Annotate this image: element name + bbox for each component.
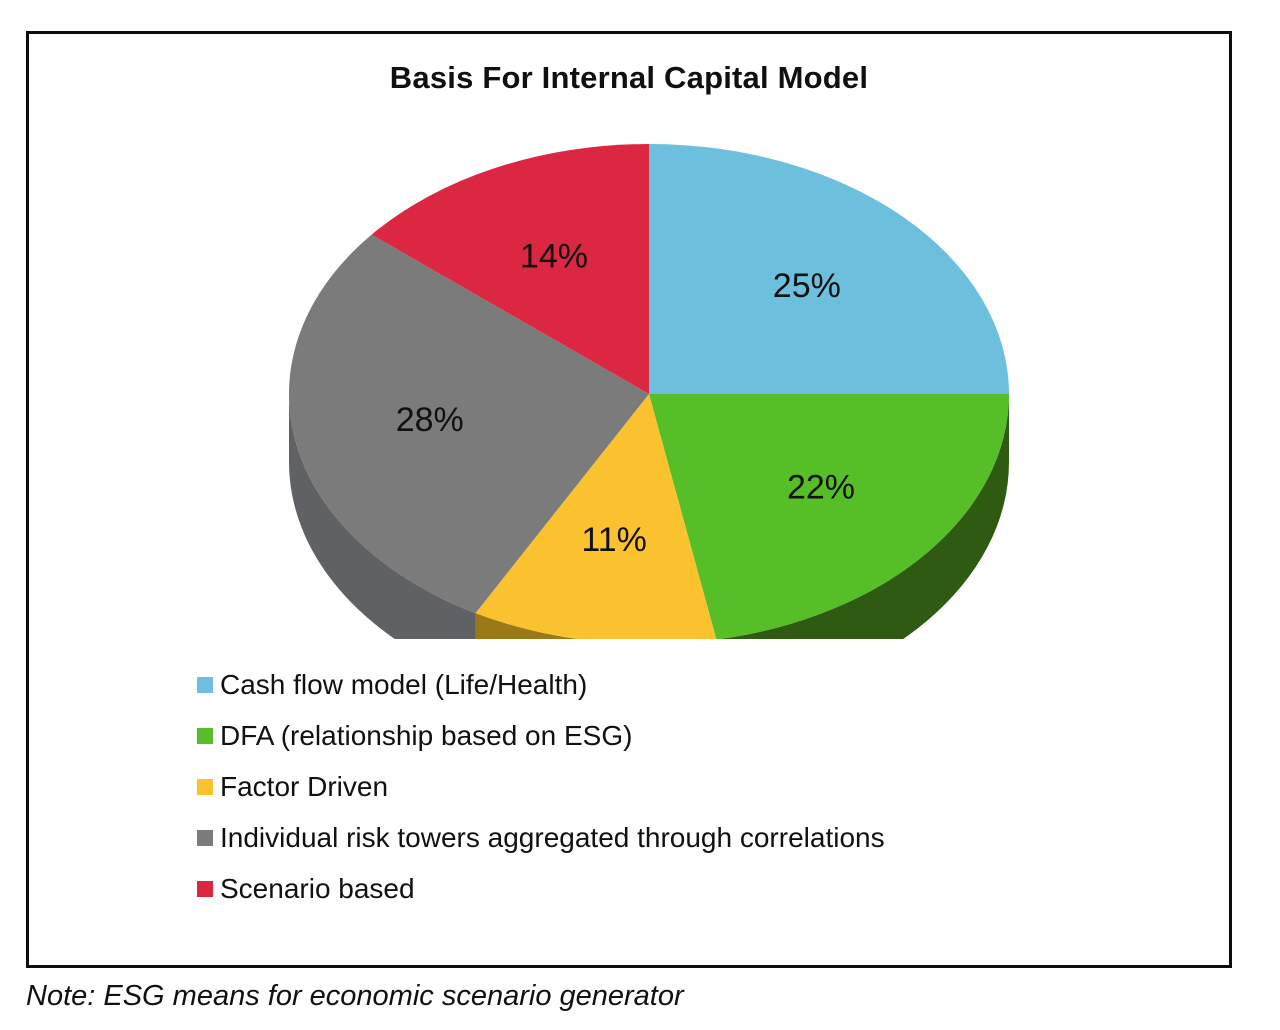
legend-swatch-icon <box>197 677 213 693</box>
legend-item[interactable]: DFA (relationship based on ESG) <box>197 710 1197 761</box>
pie-slice-label: 14% <box>520 237 588 275</box>
legend-item-label: DFA (relationship based on ESG) <box>220 722 632 750</box>
pie-slice-label: 28% <box>396 401 464 439</box>
pie-slice-label: 22% <box>787 469 855 507</box>
legend-item-label: Factor Driven <box>220 773 388 801</box>
legend-item-label: Individual risk towers aggregated throug… <box>220 824 885 852</box>
pie-chart-svg: 25%22%11%28%14% <box>29 139 1229 639</box>
chart-title: Basis For Internal Capital Model <box>29 60 1229 96</box>
legend-swatch-icon <box>197 830 213 846</box>
legend-item-label: Scenario based <box>220 875 415 903</box>
legend-item[interactable]: Scenario based <box>197 863 1197 914</box>
pie-slice-label: 25% <box>773 267 841 305</box>
figure-note: Note: ESG means for economic scenario ge… <box>26 980 684 1013</box>
pie-slice-label: 11% <box>581 521 647 559</box>
legend-item-label: Cash flow model (Life/Health) <box>220 671 587 699</box>
legend-item[interactable]: Individual risk towers aggregated throug… <box>197 812 1197 863</box>
chart-legend: Cash flow model (Life/Health) DFA (relat… <box>197 659 1197 914</box>
legend-swatch-icon <box>197 881 213 897</box>
pie-top-slices <box>289 144 1009 639</box>
figure-container: Basis For Internal Capital Model 25%22%1… <box>0 0 1280 1030</box>
legend-item[interactable]: Factor Driven <box>197 761 1197 812</box>
legend-swatch-icon <box>197 779 213 795</box>
legend-item[interactable]: Cash flow model (Life/Health) <box>197 659 1197 710</box>
pie-chart-area: 25%22%11%28%14% <box>29 139 1229 639</box>
legend-swatch-icon <box>197 728 213 744</box>
chart-frame: Basis For Internal Capital Model 25%22%1… <box>26 31 1232 968</box>
